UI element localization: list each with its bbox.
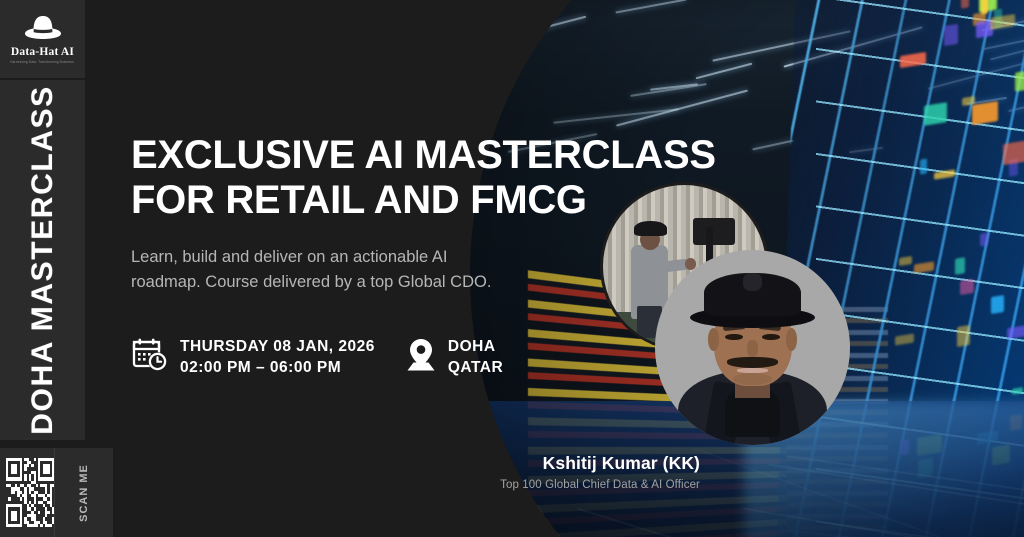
calendar-clock-icon [131,336,169,379]
event-banner: Data-Hat AI Harnessing Data. Transformin… [0,0,1024,537]
qr-code-icon[interactable] [6,458,54,528]
subheadline: Learn, build and deliver on an actionabl… [131,245,581,295]
event-location-line1: DOHA [448,337,503,358]
sidebar-masterclass-label: DOHA MASTERCLASS [0,80,85,440]
page-title: EXCLUSIVE AI MASTERCLASS FOR RETAIL AND … [131,133,716,223]
event-location-line2: QATAR [448,358,503,379]
brand-tagline: Harnessing Data. Transforming Business. [10,61,75,64]
speaker-portrait-photo [655,250,850,445]
location-pin-icon [405,337,437,378]
event-date-line2: 02:00 PM – 06:00 PM [180,358,375,379]
event-date-block: THURSDAY 08 JAN, 2026 02:00 PM – 06:00 P… [131,336,375,379]
event-meta: THURSDAY 08 JAN, 2026 02:00 PM – 06:00 P… [131,336,503,379]
brand-name: Data-Hat AI [11,47,74,59]
event-location-block: DOHA QATAR [405,337,503,379]
brand-logo[interactable]: Data-Hat AI Harnessing Data. Transformin… [0,0,85,78]
event-date-line1: THURSDAY 08 JAN, 2026 [180,337,375,358]
sidebar-label-text: DOHA MASTERCLASS [26,85,60,435]
qr-scan-panel[interactable]: SCAN ME [0,448,113,537]
fedora-hat-icon [22,14,64,46]
scan-me-label: SCAN ME [78,464,90,522]
